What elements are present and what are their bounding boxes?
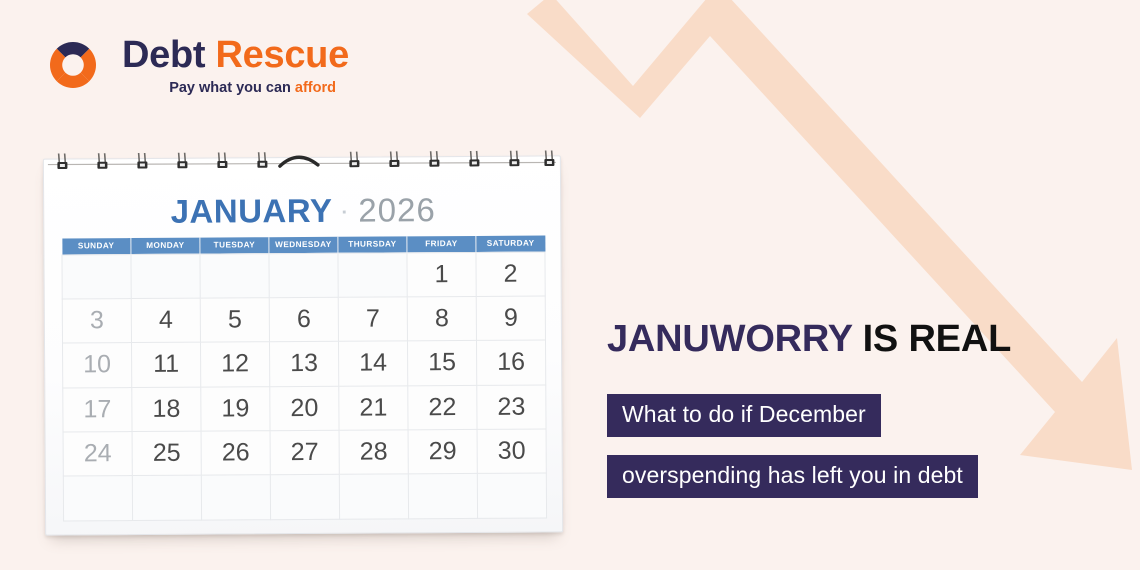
subtitle-line-1: What to do if December <box>607 394 881 437</box>
subtitle-line-2-text: overspending has left you in debt <box>622 462 963 489</box>
calendar-day-cell[interactable]: 4 <box>131 298 200 343</box>
lifebuoy-icon <box>40 32 106 98</box>
calendar-day-cell[interactable]: 6 <box>269 297 338 342</box>
calendar-year: 2026 <box>358 191 436 228</box>
calendar-day-cell[interactable]: 3 <box>62 298 131 343</box>
calendar-day-cell[interactable] <box>408 474 477 519</box>
calendar-day-cell[interactable]: 5 <box>200 298 269 343</box>
wall-calendar: JANUARY · 2026 SUNDAY MONDAY TUESDAY WED… <box>40 148 566 536</box>
calendar-day-cell[interactable]: 14 <box>338 341 407 386</box>
calendar-day-cell[interactable]: 9 <box>476 296 545 341</box>
calendar-month-name: JANUARY <box>171 192 332 230</box>
calendar-day-cell[interactable]: 27 <box>270 430 339 475</box>
calendar-grid: SUNDAY MONDAY TUESDAY WEDNESDAY THURSDAY… <box>61 236 547 522</box>
calendar-day-cell[interactable] <box>63 476 132 521</box>
calendar-day-cell[interactable] <box>131 254 200 299</box>
calendar-day-cell[interactable]: 2 <box>476 252 545 297</box>
calendar-day-cell[interactable]: 10 <box>63 343 132 388</box>
subtitle-line-2: overspending has left you in debt <box>607 455 978 498</box>
calendar-page: JANUARY · 2026 SUNDAY MONDAY TUESDAY WED… <box>43 155 563 535</box>
tagline-prefix: Pay what you can <box>169 80 291 96</box>
calendar-day-cell[interactable]: 8 <box>407 296 476 341</box>
calendar-day-cell[interactable]: 29 <box>408 430 477 475</box>
calendar-title-separator: · <box>341 202 348 224</box>
calendar-day-cell[interactable]: 22 <box>408 385 477 430</box>
calendar-day-cell[interactable]: 30 <box>477 429 546 474</box>
calendar-day-cell[interactable]: 11 <box>131 342 200 387</box>
calendar-day-cell[interactable]: 16 <box>476 340 545 385</box>
calendar-day-cell[interactable] <box>200 253 269 298</box>
brand-name: Debt Rescue <box>122 34 349 77</box>
calendar-day-cell[interactable]: 25 <box>132 431 201 476</box>
calendar-day-cell[interactable]: 1 <box>407 252 476 297</box>
calendar-day-cell[interactable]: 19 <box>201 386 270 431</box>
calendar-week-row: 17 18 19 20 21 22 23 <box>63 385 546 432</box>
calendar-day-cell[interactable]: 7 <box>338 297 407 342</box>
calendar-day-cell[interactable]: 23 <box>477 385 546 430</box>
calendar-hook-icon <box>280 157 318 166</box>
calendar-day-cell[interactable] <box>339 474 408 519</box>
day-header-friday: FRIDAY <box>407 236 476 252</box>
day-header-sunday: SUNDAY <box>62 238 131 254</box>
spiral-binding-icon <box>40 148 564 179</box>
brand-name-debt: Debt <box>122 34 205 76</box>
calendar-week-row: 3 4 5 6 7 8 9 <box>62 296 545 343</box>
page-headline: JANUWORRY IS REAL <box>607 318 1011 361</box>
tagline-accent: afford <box>295 80 336 96</box>
calendar-day-cell[interactable] <box>62 254 131 299</box>
calendar-day-cell[interactable] <box>132 476 201 521</box>
calendar-week-row <box>63 473 546 520</box>
brand-name-rescue: Rescue <box>216 34 349 76</box>
headline-rest: IS REAL <box>863 318 1012 360</box>
calendar-day-cell[interactable] <box>270 475 339 520</box>
calendar-week-row: 10 11 12 13 14 15 16 <box>63 340 546 387</box>
calendar-day-cell[interactable]: 24 <box>63 432 132 477</box>
calendar-day-cell[interactable]: 18 <box>132 387 201 432</box>
calendar-day-cell[interactable] <box>201 475 270 520</box>
brand-logo[interactable]: Debt Rescue Pay what you can afford <box>40 30 330 108</box>
brand-tagline: Pay what you can afford <box>124 80 336 96</box>
day-header-monday: MONDAY <box>131 238 200 254</box>
calendar-week-row: 24 25 26 27 28 29 30 <box>63 429 546 476</box>
calendar-day-cell[interactable]: 15 <box>407 341 476 386</box>
subtitle-line-1-text: What to do if December <box>622 401 866 428</box>
headline-highlight: JANUWORRY <box>607 318 852 360</box>
calendar-day-cell[interactable]: 28 <box>339 430 408 475</box>
calendar-week-row: 1 2 <box>62 252 545 299</box>
day-header-tuesday: TUESDAY <box>200 237 269 253</box>
calendar-day-cell[interactable]: 21 <box>339 386 408 431</box>
calendar-day-cell[interactable]: 26 <box>201 431 270 476</box>
calendar-month-title: JANUARY · 2026 <box>61 191 545 232</box>
calendar-day-cell[interactable] <box>338 252 407 297</box>
calendar-day-cell[interactable] <box>477 473 546 518</box>
day-header-thursday: THURSDAY <box>338 236 407 252</box>
calendar-day-cell[interactable]: 20 <box>270 386 339 431</box>
calendar-day-cell[interactable]: 12 <box>200 342 269 387</box>
calendar-day-cell[interactable] <box>269 253 338 298</box>
day-header-wednesday: WEDNESDAY <box>269 237 338 253</box>
calendar-day-cell[interactable]: 13 <box>269 342 338 387</box>
calendar-day-cell[interactable]: 17 <box>63 387 132 432</box>
day-header-saturday: SATURDAY <box>476 236 545 252</box>
